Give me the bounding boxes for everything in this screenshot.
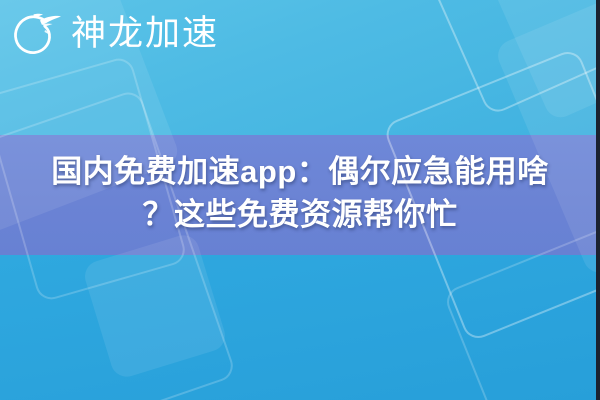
headline: 国内免费加速app：偶尔应急能用啥 ？这些免费资源帮你忙 <box>0 150 600 236</box>
right-edge-strip <box>596 0 600 400</box>
brand-header: 神龙加速 <box>10 6 219 60</box>
headline-line-1: 国内免费加速app：偶尔应急能用啥 <box>16 150 584 193</box>
background-band-bottom <box>0 255 600 400</box>
dragon-ring-logo-icon <box>10 8 62 58</box>
promo-banner: 神龙加速 国内免费加速app：偶尔应急能用啥 ？这些免费资源帮你忙 <box>0 0 600 400</box>
brand-name: 神龙加速 <box>71 16 219 51</box>
headline-line-2: ？这些免费资源帮你忙 <box>16 193 584 236</box>
